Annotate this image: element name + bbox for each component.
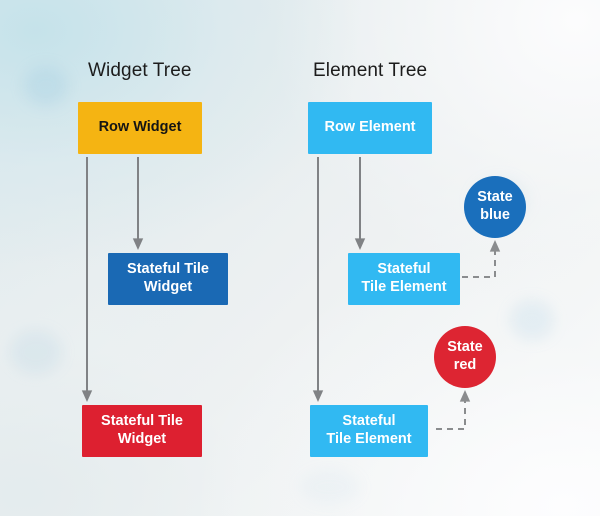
node-row-element[interactable]: Row Element: [308, 102, 432, 154]
node-stateful-tile-widget-red-label: Stateful Tile Widget: [101, 413, 183, 448]
node-stateful-tile-widget-red[interactable]: Stateful Tile Widget: [82, 405, 202, 457]
node-stateful-tile-widget-blue[interactable]: Stateful Tile Widget: [108, 253, 228, 305]
node-state-blue-label: State blue: [477, 189, 512, 224]
node-label-line-2: Widget: [118, 431, 166, 447]
node-stateful-tile-element-2[interactable]: Stateful Tile Element: [310, 405, 428, 457]
node-label-line-1: Stateful: [342, 413, 395, 429]
edge-tile-element-1-to-state-blue: [462, 246, 495, 277]
background-bokeh-blob: [10, 330, 62, 374]
background-bokeh-blob: [300, 470, 360, 504]
node-state-blue[interactable]: State blue: [464, 176, 526, 238]
node-state-red[interactable]: State red: [434, 326, 496, 388]
node-label-line-1: Stateful: [377, 261, 430, 277]
background-bokeh-blob: [24, 66, 68, 106]
diagram-canvas: Widget Tree Element Tree: [0, 0, 600, 516]
node-label-line-1: Stateful Tile: [101, 413, 183, 429]
node-label-line-1: State: [477, 189, 512, 205]
node-row-widget-label: Row Widget: [99, 119, 182, 137]
column-title-element-tree: Element Tree: [313, 60, 427, 82]
node-stateful-tile-element-1[interactable]: Stateful Tile Element: [348, 253, 460, 305]
background-bokeh-blob: [510, 300, 554, 340]
node-label-line-2: Widget: [144, 279, 192, 295]
node-label-line-2: Tile Element: [326, 431, 411, 447]
node-state-red-label: State red: [447, 339, 482, 374]
node-stateful-tile-element-1-label: Stateful Tile Element: [361, 261, 446, 296]
node-stateful-tile-element-2-label: Stateful Tile Element: [326, 413, 411, 448]
edge-tile-element-2-to-state-red: [436, 396, 465, 429]
node-label-line-2: red: [454, 357, 477, 373]
node-label-line-1: State: [447, 339, 482, 355]
node-label-line-2: Tile Element: [361, 279, 446, 295]
node-row-element-label: Row Element: [324, 119, 415, 137]
node-row-widget[interactable]: Row Widget: [78, 102, 202, 154]
node-label-line-1: Stateful Tile: [127, 261, 209, 277]
node-stateful-tile-widget-blue-label: Stateful Tile Widget: [127, 261, 209, 296]
column-title-widget-tree: Widget Tree: [88, 60, 192, 82]
node-label-line-2: blue: [480, 207, 510, 223]
